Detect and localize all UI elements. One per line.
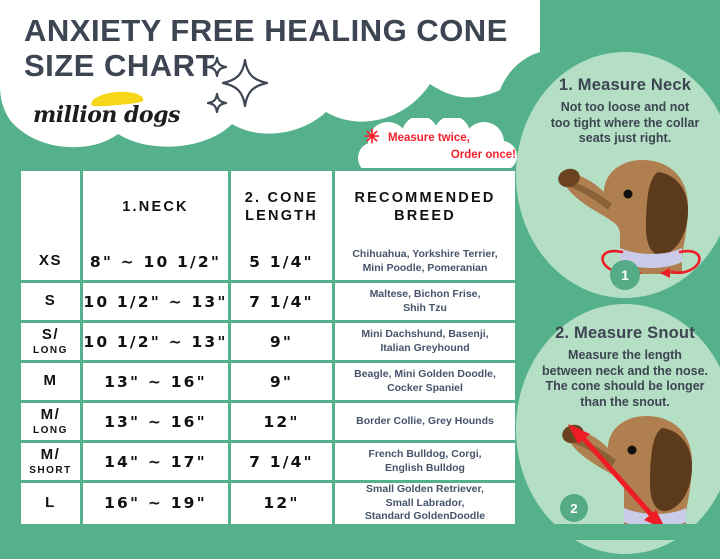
breed-line-1: Maltese, Bichon Frise, bbox=[370, 288, 481, 300]
table-row: XS 8" ~ 10 1/2" 5 1/4" Chihuahua, Yorksh… bbox=[21, 243, 515, 283]
step-badge-1: 1 bbox=[610, 260, 640, 290]
header-breed-line-1: RECOMMENDED bbox=[335, 189, 515, 207]
cell-cone-length: 7 1/4" bbox=[231, 443, 335, 483]
cell-cone-length: 9" bbox=[231, 323, 335, 363]
panel-snout-body: Measure the length between neck and the … bbox=[522, 348, 720, 411]
header-cell-neck: 1.NECK bbox=[83, 171, 231, 243]
size-label: L bbox=[45, 494, 56, 511]
table-row: S 10 1/2" ~ 13" 7 1/4" Maltese, Bichon F… bbox=[21, 283, 515, 323]
brand-logo: million dogs bbox=[33, 92, 183, 132]
cell-size: M/SHORT bbox=[21, 443, 83, 483]
cell-cone-length: 7 1/4" bbox=[231, 283, 335, 323]
neck-value: 14" ~ 17" bbox=[83, 453, 228, 471]
cell-breed: Border Collie, Grey Hounds bbox=[335, 403, 515, 443]
panel-snout-body-line-4: than the snout. bbox=[580, 395, 670, 409]
cone-value: 12" bbox=[231, 413, 332, 431]
size-sublabel: LONG bbox=[21, 425, 80, 436]
cell-cone-length: 5 1/4" bbox=[231, 243, 335, 283]
cell-cone-length: 9" bbox=[231, 363, 335, 403]
breed-line-2: Cocker Spaniel bbox=[387, 382, 463, 394]
table-row: M 13" ~ 16" 9" Beagle, Mini Golden Doodl… bbox=[21, 363, 515, 403]
table-header-row: 1.NECK 2. CONE LENGTH RECOMMENDED BREED bbox=[21, 171, 515, 243]
neck-value: 13" ~ 16" bbox=[83, 413, 228, 431]
dog-eye bbox=[624, 190, 633, 199]
cell-breed: Mini Dachshund, Basenji,Italian Greyhoun… bbox=[335, 323, 515, 363]
cone-value: 12" bbox=[231, 494, 332, 512]
note-line-1: Measure twice, bbox=[370, 130, 520, 147]
table-row: M/SHORT 14" ~ 17" 7 1/4" French Bulldog,… bbox=[21, 443, 515, 483]
dog-eye bbox=[628, 446, 637, 455]
cell-size: L bbox=[21, 483, 83, 524]
instruction-panel-measure-snout: 2. Measure Snout Measure the length betw… bbox=[516, 304, 720, 554]
measure-twice-text: Measure twice, Order once! bbox=[370, 130, 520, 163]
cell-size: M/LONG bbox=[21, 403, 83, 443]
breed-line-1: Border Collie, Grey Hounds bbox=[356, 415, 494, 427]
sparkle-icon-group bbox=[203, 52, 283, 124]
panel-snout-body-line-1: Measure the length bbox=[568, 348, 682, 362]
size-sublabel: LONG bbox=[21, 345, 80, 356]
cell-size: S bbox=[21, 283, 83, 323]
table-header: 1.NECK 2. CONE LENGTH RECOMMENDED BREED bbox=[21, 171, 515, 243]
cell-cone-length: 12" bbox=[231, 483, 335, 524]
header-breed-line-2: BREED bbox=[335, 207, 515, 225]
bottom-green-strip bbox=[0, 524, 720, 540]
breed-line-2: Italian Greyhound bbox=[380, 342, 469, 354]
step-badge-2: 2 bbox=[560, 494, 588, 522]
neck-value: 16" ~ 19" bbox=[83, 494, 228, 512]
cell-size: S/LONG bbox=[21, 323, 83, 363]
size-label: XS bbox=[39, 252, 62, 269]
brand-name: million dogs bbox=[33, 102, 180, 128]
panel-neck-body-line-1: Not too loose and not bbox=[561, 100, 689, 114]
cone-value: 5 1/4" bbox=[231, 253, 332, 271]
cell-neck: 10 1/2" ~ 13" bbox=[83, 283, 231, 323]
panel-snout-body-line-3: The cone should be longer bbox=[545, 379, 704, 393]
cell-breed: French Bulldog, Corgi,English Bulldog bbox=[335, 443, 515, 483]
table-body: XS 8" ~ 10 1/2" 5 1/4" Chihuahua, Yorksh… bbox=[21, 243, 515, 524]
header-neck-label: 1.NECK bbox=[83, 198, 228, 216]
neck-value: 10 1/2" ~ 13" bbox=[83, 333, 228, 351]
table-row: S/LONG 10 1/2" ~ 13" 9" Mini Dachshund, … bbox=[21, 323, 515, 363]
cell-neck: 8" ~ 10 1/2" bbox=[83, 243, 231, 283]
size-label: S/ bbox=[42, 326, 59, 343]
breed-line-2: Small Labrador, bbox=[386, 497, 465, 509]
breed-line-1: Mini Dachshund, Basenji, bbox=[361, 328, 488, 340]
cell-breed: Maltese, Bichon Frise,Shih Tzu bbox=[335, 283, 515, 323]
breed-line-3: Standard GoldenDoodle bbox=[365, 510, 485, 522]
cell-breed: Chihuahua, Yorkshire Terrier,Mini Poodle… bbox=[335, 243, 515, 283]
breed-line-1: French Bulldog, Corgi, bbox=[368, 448, 481, 460]
panel-neck-body-line-2: too tight where the collar bbox=[551, 116, 700, 130]
cell-neck: 13" ~ 16" bbox=[83, 403, 231, 443]
panel-snout-body-line-2: between neck and the nose. bbox=[542, 364, 708, 378]
neck-value: 10 1/2" ~ 13" bbox=[83, 293, 228, 311]
panel-neck-body-line-3: seats just right. bbox=[579, 131, 671, 145]
header-cell-recommended-breed: RECOMMENDED BREED bbox=[335, 171, 515, 243]
table-row: M/LONG 13" ~ 16" 12" Border Collie, Grey… bbox=[21, 403, 515, 443]
size-label: S bbox=[45, 292, 57, 309]
breed-line-2: Mini Poodle, Pomeranian bbox=[363, 262, 488, 274]
cone-value: 9" bbox=[231, 373, 332, 391]
cell-breed: Beagle, Mini Golden Doodle,Cocker Spanie… bbox=[335, 363, 515, 403]
breed-line-1: Small Golden Retriever, bbox=[366, 483, 484, 495]
panel-neck-body: Not too loose and not too tight where th… bbox=[522, 100, 720, 147]
header-cell-cone-length: 2. CONE LENGTH bbox=[231, 171, 335, 243]
sparkle-icon-small-top bbox=[208, 58, 226, 76]
neck-value: 13" ~ 16" bbox=[83, 373, 228, 391]
cell-size: XS bbox=[21, 243, 83, 283]
cone-value: 7 1/4" bbox=[231, 453, 332, 471]
header-cell-size bbox=[21, 171, 83, 243]
sparkle-icon-small-bottom bbox=[208, 94, 226, 112]
panel-neck-heading: 1. Measure Neck bbox=[516, 76, 720, 95]
size-label: M/ bbox=[41, 446, 61, 463]
cone-value: 7 1/4" bbox=[231, 293, 332, 311]
size-label: M bbox=[43, 372, 57, 389]
neck-value: 8" ~ 10 1/2" bbox=[83, 253, 228, 271]
breed-line-1: Beagle, Mini Golden Doodle, bbox=[354, 368, 496, 380]
cell-breed: Small Golden Retriever,Small Labrador,St… bbox=[335, 483, 515, 524]
cone-value: 9" bbox=[231, 333, 332, 351]
breed-line-2: Shih Tzu bbox=[403, 302, 447, 314]
size-label: M/ bbox=[41, 406, 61, 423]
instruction-panel-measure-neck: 1. Measure Neck Not too loose and not to… bbox=[516, 52, 720, 298]
cell-size: M bbox=[21, 363, 83, 403]
cell-neck: 13" ~ 16" bbox=[83, 363, 231, 403]
sparkle-icon-large bbox=[223, 60, 267, 106]
cell-neck: 14" ~ 17" bbox=[83, 443, 231, 483]
title-line-1: Anxiety Free Healing Cone bbox=[24, 14, 524, 49]
table-row: L 16" ~ 19" 12" Small Golden Retriever,S… bbox=[21, 483, 515, 524]
size-sublabel: SHORT bbox=[21, 465, 80, 476]
cell-neck: 16" ~ 19" bbox=[83, 483, 231, 524]
header-cone-line-1: 2. CONE bbox=[231, 189, 332, 207]
panel-snout-heading: 2. Measure Snout bbox=[516, 324, 720, 343]
cell-cone-length: 12" bbox=[231, 403, 335, 443]
size-chart-table: 1.NECK 2. CONE LENGTH RECOMMENDED BREED … bbox=[18, 168, 518, 527]
cell-neck: 10 1/2" ~ 13" bbox=[83, 323, 231, 363]
header-cone-line-2: LENGTH bbox=[231, 207, 332, 225]
breed-line-1: Chihuahua, Yorkshire Terrier, bbox=[352, 248, 497, 260]
breed-line-2: English Bulldog bbox=[385, 462, 465, 474]
note-line-2: Order once! bbox=[370, 147, 520, 164]
